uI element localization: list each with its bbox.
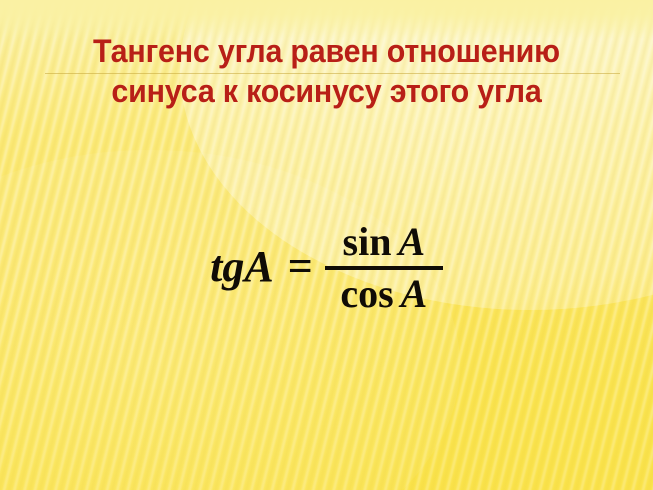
- slide-canvas: Тангенс угла равен отношению синуса к ко…: [0, 0, 653, 490]
- fraction-denominator: cosA: [336, 274, 431, 314]
- title-line-2: синуса к косинусу этого угла: [16, 71, 636, 111]
- denominator-variable: A: [401, 271, 428, 316]
- numerator-operator: sin: [343, 219, 392, 264]
- formula-equals-sign: =: [288, 245, 313, 291]
- slide-title: Тангенс угла равен отношению синуса к ко…: [0, 31, 653, 111]
- fraction-bar: [325, 266, 443, 270]
- formula-left-side: tgA: [210, 245, 274, 291]
- title-line-1: Тангенс угла равен отношению: [16, 31, 636, 71]
- formula-fraction: sinA cosA: [325, 222, 443, 314]
- denominator-operator: cos: [340, 271, 393, 316]
- numerator-variable: A: [398, 219, 425, 264]
- fraction-numerator: sinA: [339, 222, 430, 262]
- formula-block: tgA = sinA cosA: [0, 222, 653, 314]
